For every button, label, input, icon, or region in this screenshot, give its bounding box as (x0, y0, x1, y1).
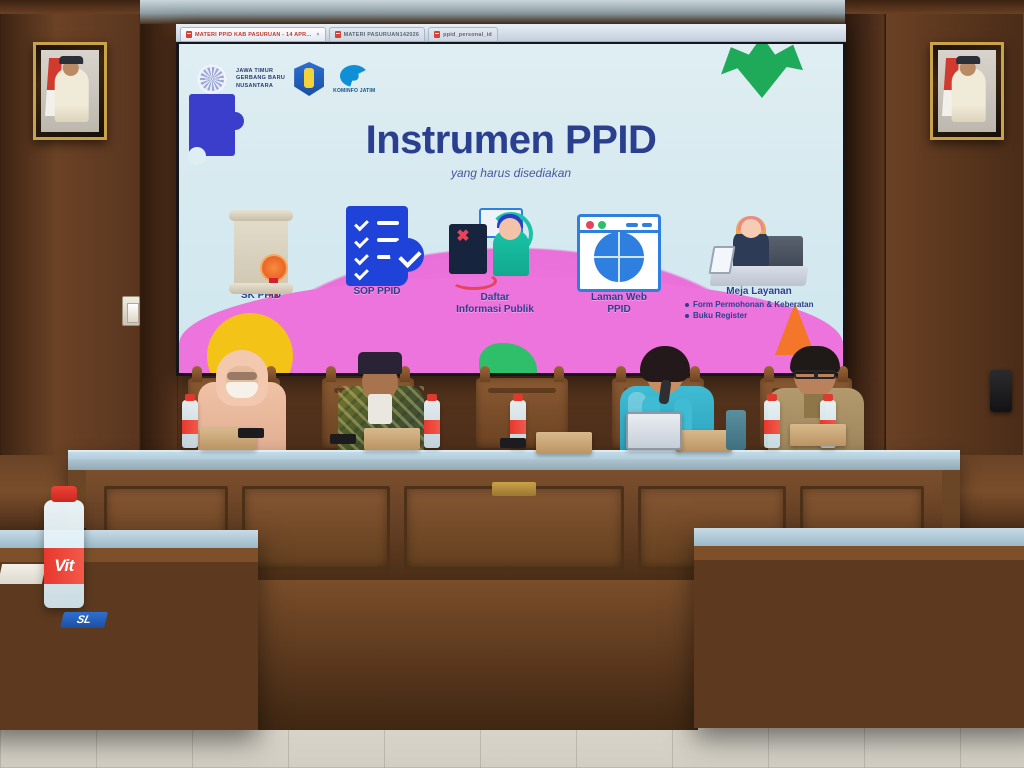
close-icon[interactable]: × (317, 32, 320, 38)
slide-subtitle: yang harus disediakan (179, 166, 843, 180)
official-portrait-left (33, 42, 107, 140)
item-label: SOP PPID (319, 286, 435, 298)
browser-tab-2[interactable]: MATERI PASURUAN142026 (329, 27, 426, 41)
pdf-icon (186, 31, 192, 38)
meja-layanan-bullets: Form Permohonan & Keberatan Buku Registe… (684, 300, 834, 322)
checklist-document-icon (319, 194, 435, 286)
official-portrait-right (930, 42, 1004, 140)
pdf-icon (434, 31, 440, 38)
projection-screen: MATERI PPID KAB PASURUAN - 14 APR... × M… (176, 24, 846, 376)
wall-mounted-device (990, 370, 1012, 412)
person-documents-icon: ✖ (433, 200, 557, 292)
table-panel (242, 486, 390, 570)
item-label: Laman Web PPID (557, 292, 681, 316)
browser-tab-active[interactable]: MATERI PPID KAB PASURUAN - 14 APR... × (180, 27, 326, 41)
slide-item-meja-layanan: Meja Layanan Form Permohonan & Keberatan… (684, 194, 834, 322)
browser-tab-bar: MATERI PPID KAB PASURUAN - 14 APR... × M… (176, 24, 846, 42)
room-scene: MATERI PPID KAB PASURUAN - 14 APR... × M… (0, 0, 1024, 768)
province-branding-text: JAWA TIMUR GERBANG BARU NUSANTARA (236, 68, 285, 90)
presentation-slide: JAWA TIMUR GERBANG BARU NUSANTARA KOMINF… (179, 44, 843, 373)
service-desk-agent-icon (684, 194, 834, 286)
slide-item-laman-web-ppid: Laman Web PPID (557, 200, 681, 316)
phone-device[interactable] (238, 428, 264, 438)
tab-label: MATERI PASURUAN142026 (344, 32, 420, 38)
foreground-table-right (694, 528, 1024, 728)
vit-water-bottle: Vit (44, 500, 84, 608)
certificate-scroll-icon (205, 198, 317, 290)
foreground-table-left (0, 530, 258, 730)
slide-items: SK PPID SOP PPID (179, 194, 843, 373)
ceiling-strip (140, 0, 845, 24)
kominfo-logo: KOMINFO JATIM (333, 65, 375, 94)
jawa-timur-emblem-icon (294, 62, 324, 96)
water-bottle (182, 400, 198, 448)
water-bottle (424, 400, 440, 448)
water-bottle (764, 400, 780, 448)
tumbler (726, 410, 746, 450)
table-glass-top (68, 450, 960, 470)
browser-tab-3[interactable]: ppid_personal_id (428, 27, 498, 41)
bullet-item: Buku Register (684, 311, 834, 322)
foreground-table-middle (258, 580, 698, 730)
slide-item-sop-ppid: SOP PPID (319, 194, 435, 298)
bottle-cap (51, 486, 77, 502)
wall-panel-left-inner (140, 0, 178, 470)
table-emblem-plate (492, 482, 536, 496)
snack-box (676, 430, 732, 452)
table-panel (404, 486, 624, 570)
tab-label: MATERI PPID KAB PASURUAN - 14 APR... (195, 32, 312, 38)
bottle-brand-text: Vit (54, 556, 74, 576)
slide-logos: JAWA TIMUR GERBANG BARU NUSANTARA KOMINF… (197, 62, 375, 96)
snack-box (790, 424, 846, 446)
slide-item-sk-ppid: SK PPID (205, 198, 317, 302)
bullet-item: Form Permohonan & Keberatan (684, 300, 834, 311)
bottle-label: Vit (44, 548, 84, 584)
tab-label: ppid_personal_id (443, 32, 492, 38)
chair-label: SL (60, 612, 108, 628)
tablet-device[interactable] (626, 412, 682, 450)
batik-motif-logo (197, 64, 227, 94)
phone-device[interactable] (500, 438, 526, 448)
star-decoration (721, 44, 803, 98)
item-label: Daftar Informasi Publik (433, 292, 557, 316)
slide-item-daftar-informasi-publik: ✖ Daftar Informasi Publik (433, 200, 557, 316)
kominfo-label: KOMINFO JATIM (333, 88, 375, 94)
light-switch[interactable] (122, 296, 140, 326)
phone-device[interactable] (330, 434, 356, 444)
pdf-icon (335, 31, 341, 38)
browser-globe-icon (557, 200, 681, 292)
slide-title: Instrumen PPID (179, 118, 843, 163)
snack-box (364, 428, 420, 450)
napkin (0, 564, 46, 584)
kominfo-eye-icon (340, 65, 368, 87)
snack-box (536, 432, 592, 454)
item-label: Meja Layanan (684, 286, 834, 298)
